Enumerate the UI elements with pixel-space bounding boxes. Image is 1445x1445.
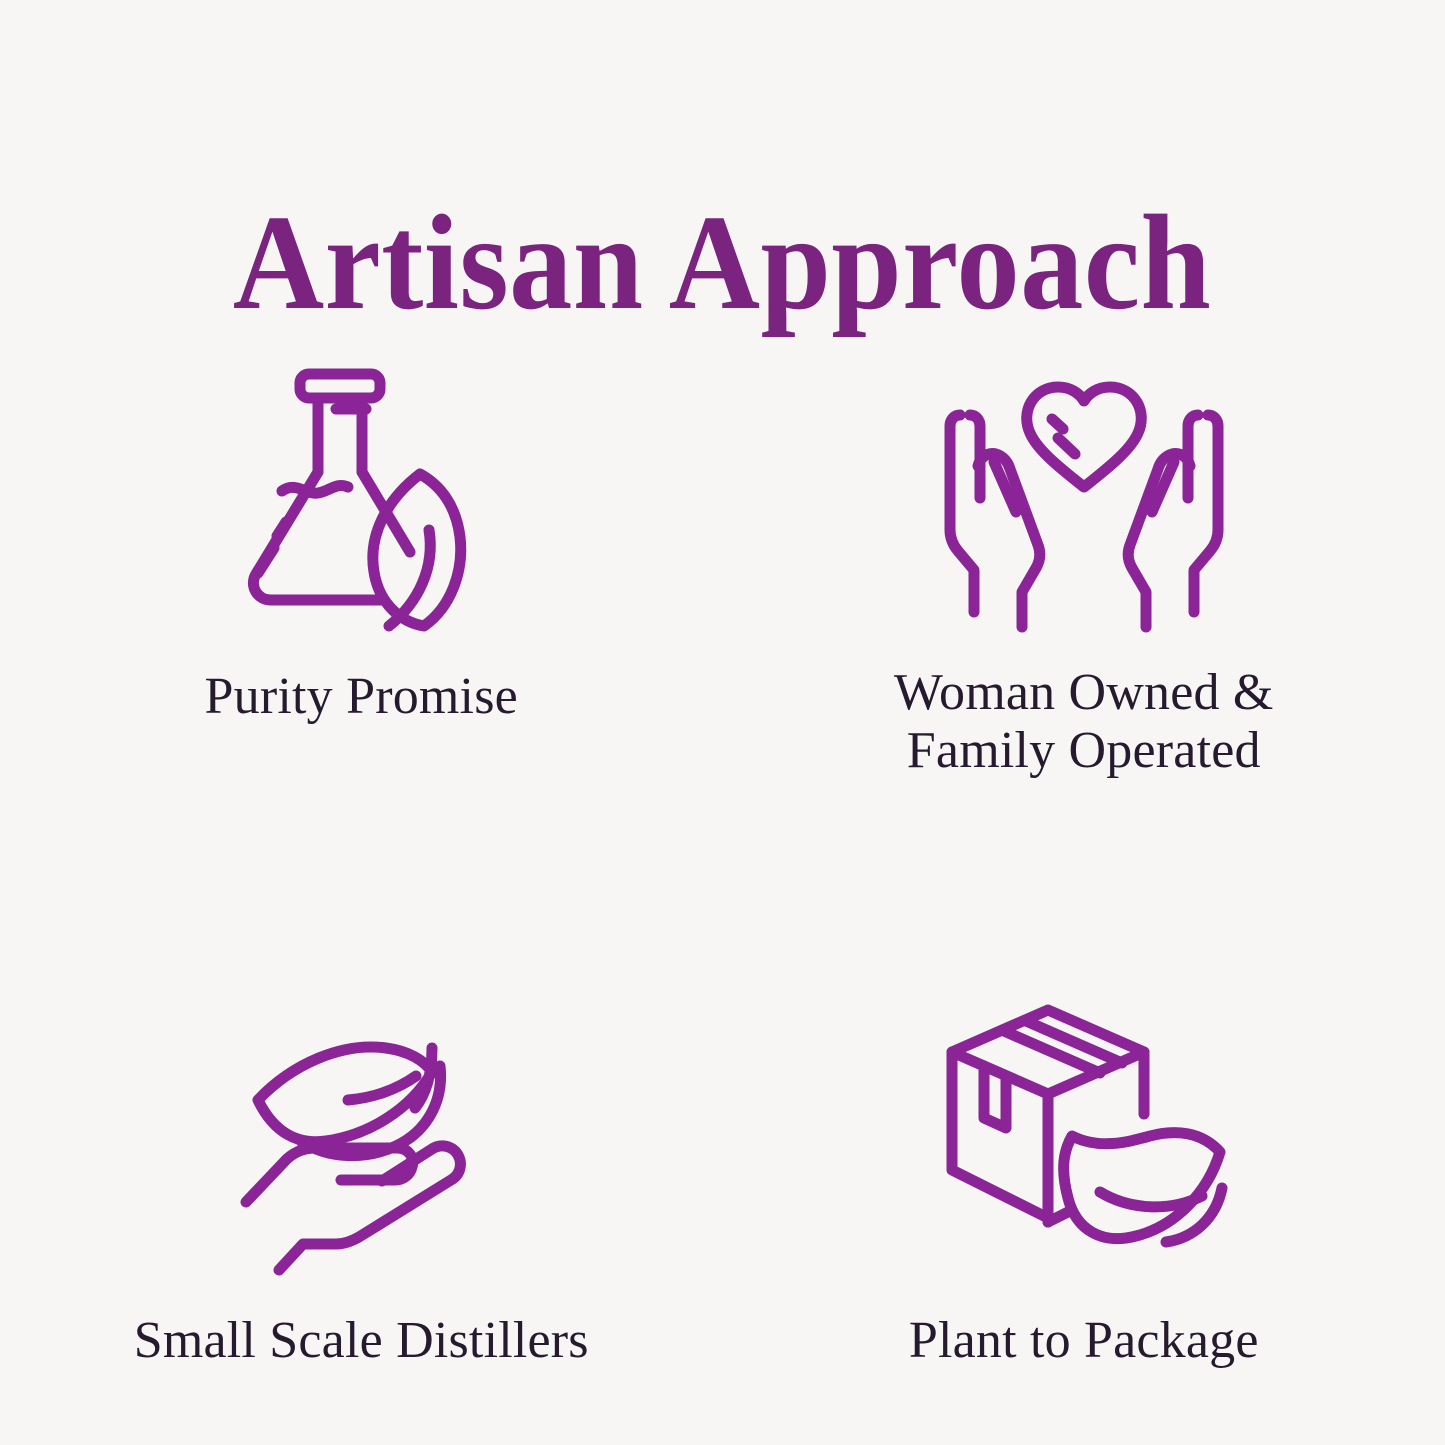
flask-leaf-icon	[211, 352, 511, 642]
feature-label: Woman Owned & Family Operated	[894, 664, 1274, 780]
feature-card-plant-to-package: Plant to Package	[723, 786, 1445, 1370]
feature-label: Purity Promise	[205, 668, 518, 726]
feature-card-small-scale-distillers: Small Scale Distillers	[0, 786, 723, 1370]
feature-label: Small Scale Distillers	[134, 1312, 589, 1370]
feature-card-purity-promise: Purity Promise	[0, 330, 723, 786]
feature-card-woman-owned: Woman Owned & Family Operated	[723, 330, 1445, 786]
hands-heart-icon	[934, 352, 1234, 642]
box-leaf-icon	[934, 986, 1234, 1266]
feature-grid: Purity Promise	[0, 330, 1445, 1370]
leaf-in-hand-icon	[211, 986, 511, 1266]
feature-label: Plant to Package	[909, 1312, 1259, 1370]
artisan-approach-infographic: Artisan Approach	[0, 0, 1445, 1445]
page-title: Artisan Approach	[233, 195, 1211, 331]
